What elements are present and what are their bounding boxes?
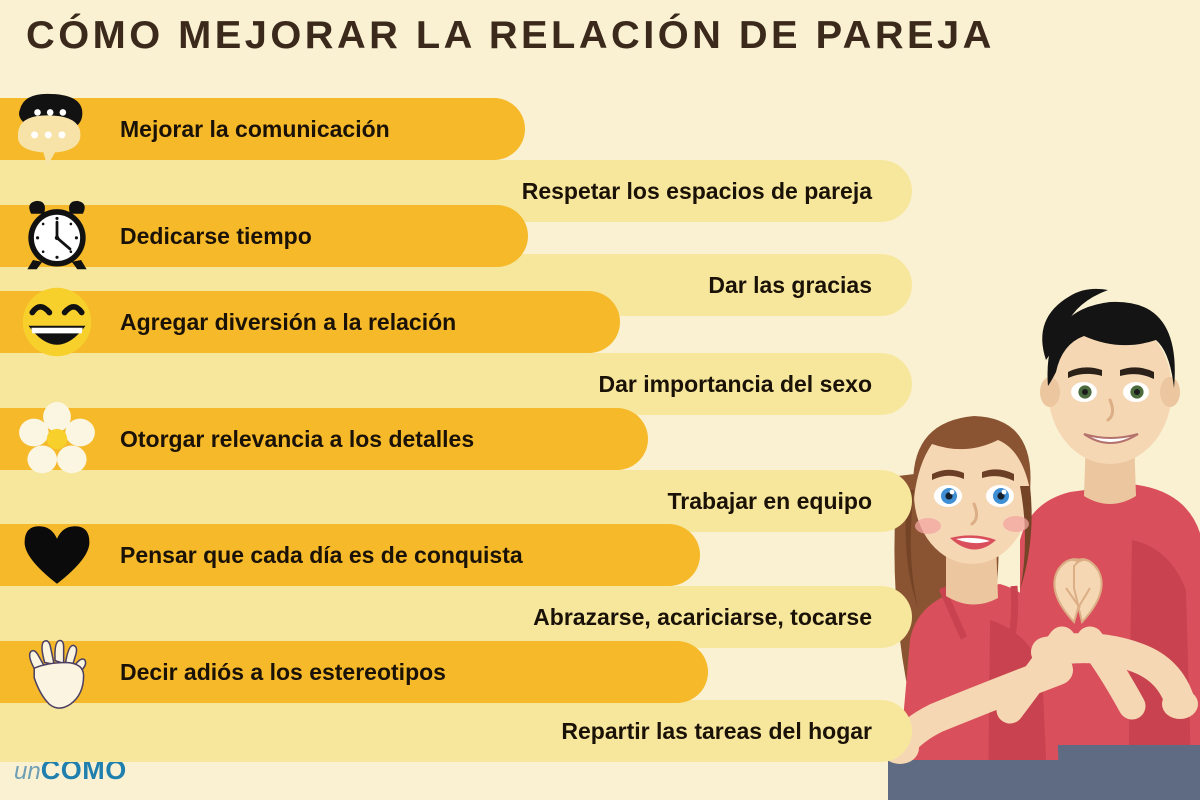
page-title: CÓMO MEJORAR LA RELACIÓN DE PAREJA	[26, 14, 995, 58]
tip-bar: Otorgar relevancia a los detalles	[0, 408, 648, 470]
tip-label: Otorgar relevancia a los detalles	[120, 428, 474, 451]
tip-bar: Trabajar en equipo	[0, 470, 912, 532]
tip-bar: Dedicarse tiempo	[0, 205, 528, 267]
speech-bubbles-icon	[18, 90, 96, 168]
flower-icon	[18, 400, 96, 478]
tip-label: Dar las gracias	[708, 274, 872, 297]
brand-prefix: un	[14, 758, 41, 785]
tip-label: Trabajar en equipo	[668, 490, 873, 513]
tip-label: Dedicarse tiempo	[120, 225, 312, 248]
tip-bar: Decir adiós a los estereotipos	[0, 641, 708, 703]
tip-label: Decir adiós a los estereotipos	[120, 661, 446, 684]
tip-label: Pensar que cada día es de conquista	[120, 544, 523, 567]
smiley-face-icon	[18, 283, 96, 361]
tip-label: Agregar diversión a la relación	[120, 311, 456, 334]
tip-label: Repartir las tareas del hogar	[561, 720, 872, 743]
heart-icon	[18, 516, 96, 594]
tip-label: Dar importancia del sexo	[598, 373, 872, 396]
tip-bar: Dar importancia del sexo	[0, 353, 912, 415]
tip-bar: Mejorar la comunicación	[0, 98, 525, 160]
tip-bar: Agregar diversión a la relación	[0, 291, 620, 353]
tip-bar: Abrazarse, acariciarse, tocarse	[0, 586, 912, 648]
infographic-canvas: CÓMO MEJORAR LA RELACIÓN DE PAREJA Mejor…	[0, 0, 1200, 800]
waving-hand-icon	[18, 633, 96, 711]
tip-bar: Repartir las tareas del hogar	[0, 700, 912, 762]
tip-bar: Pensar que cada día es de conquista	[0, 524, 700, 586]
alarm-clock-icon	[18, 197, 96, 275]
tip-label: Mejorar la comunicación	[120, 118, 390, 141]
couple-embracing-illustration	[870, 240, 1200, 800]
tip-label: Abrazarse, acariciarse, tocarse	[533, 606, 872, 629]
tip-label: Respetar los espacios de pareja	[522, 180, 872, 203]
